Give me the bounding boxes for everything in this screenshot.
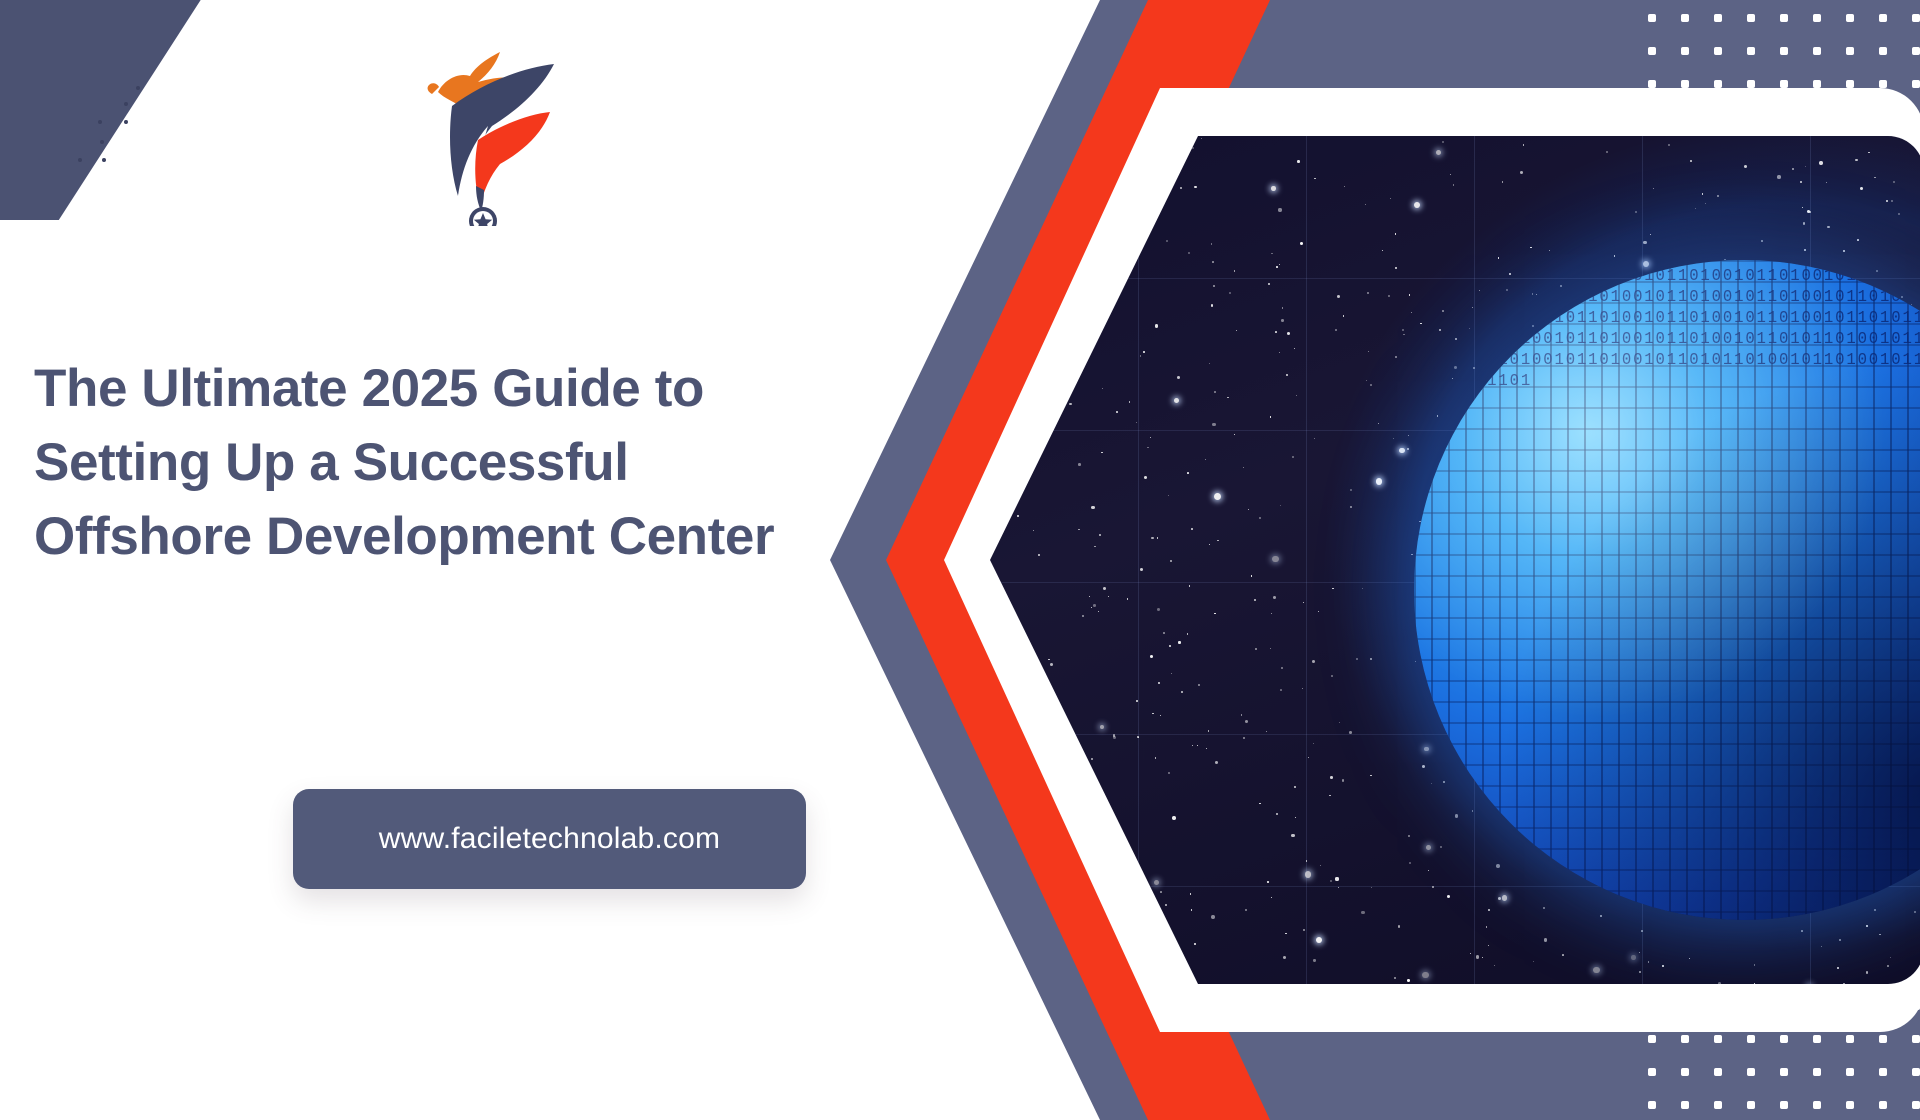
phoenix-bird-logo: [392, 36, 582, 226]
page-title: The Ultimate 2025 Guide to Setting Up a …: [34, 352, 884, 574]
headline-line-3: Offshore Development Center: [34, 500, 884, 574]
globe-shading: [1414, 260, 1920, 920]
website-url-label: www.faciletechnolab.com: [379, 822, 720, 856]
hero-graphic: 1010010110101101001011010010110100101101…: [830, 0, 1920, 1120]
headline-line-2: Setting Up a Successful: [34, 426, 884, 500]
website-url-button[interactable]: www.faciletechnolab.com: [293, 789, 806, 889]
top-left-dot-cluster: [78, 86, 188, 196]
binary-globe-icon: 1010010110101101001011010010110100101101…: [1414, 260, 1920, 920]
headline-line-1: The Ultimate 2025 Guide to: [34, 352, 884, 426]
cover-canvas: 1010010110101101001011010010110100101101…: [0, 0, 1920, 1120]
